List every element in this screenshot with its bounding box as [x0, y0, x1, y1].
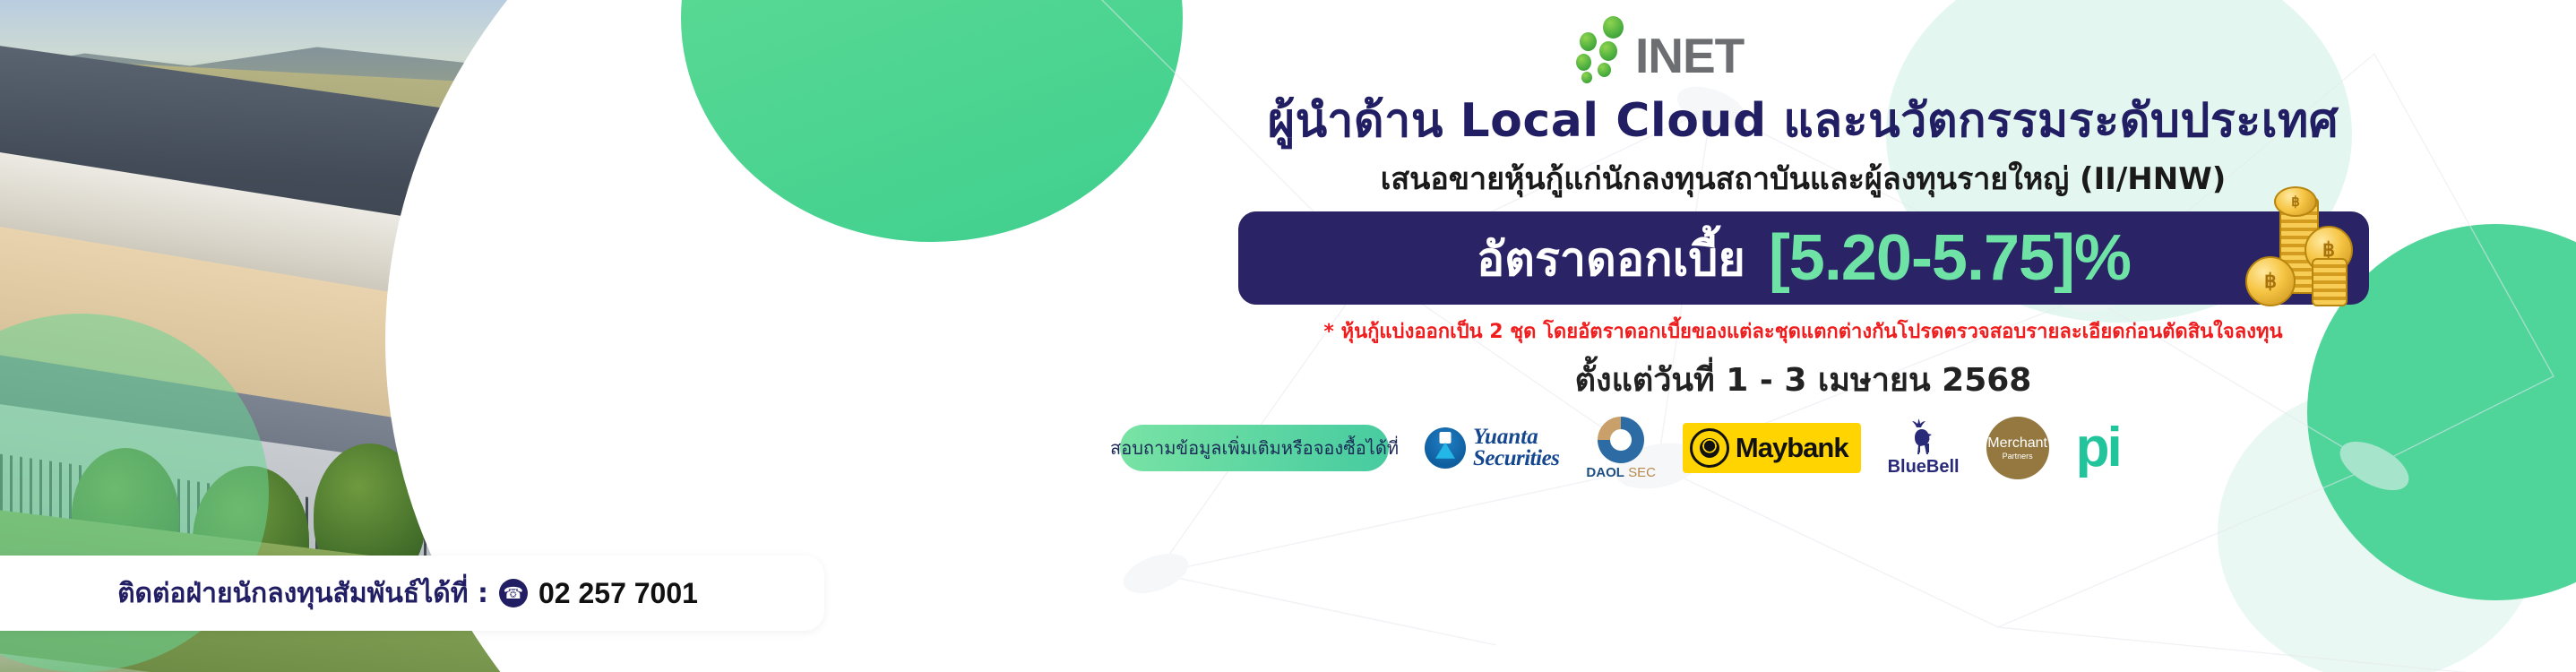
yuanta-wordmark: Yuanta Securities: [1473, 426, 1559, 470]
partner-logo-yuanta[interactable]: Yuanta Securities: [1425, 426, 1559, 470]
partner-logo-merchant-partners[interactable]: Merchant Partners: [1986, 417, 2049, 479]
daol-name: DAOL: [1586, 465, 1624, 480]
interest-rate-box: อัตราดอกเบี้ย [5.20-5.75]% ฿ ฿ ฿: [1238, 211, 2369, 305]
gold-coins-icon: ฿ ฿ ฿: [2238, 192, 2355, 317]
maybank-wordmark: Maybank: [1736, 432, 1848, 464]
page-title: ผู้นำด้าน Local Cloud และนวัตกรรมระดับปร…: [1030, 82, 2576, 157]
daol-suffix: SEC: [1628, 465, 1656, 480]
daol-wordmark: DAOL SEC: [1586, 465, 1656, 480]
partner-logo-maybank[interactable]: Maybank: [1683, 423, 1861, 473]
merchant-line2: Partners: [2003, 452, 2033, 461]
disclaimer-text: * หุ้นกู้แบ่งออกเป็น 2 ชุด โดยอัตราดอกเบ…: [1030, 315, 2576, 347]
yuanta-mark-icon: [1425, 427, 1466, 469]
yuanta-line1: Yuanta: [1473, 426, 1559, 448]
inet-logo-text: INET: [1635, 35, 1744, 77]
partner-logo-bluebell[interactable]: BlueBell: [1888, 418, 1960, 478]
phone-icon: ☎: [499, 579, 528, 607]
partner-logo-pi[interactable]: pi: [2076, 426, 2120, 470]
maybank-tiger-icon: [1690, 428, 1729, 468]
partner-logo-list: Yuanta Securities DAOL SEC Maybank: [1425, 417, 2120, 480]
interest-rate-label: อัตราดอกเบี้ย: [1477, 221, 1745, 296]
contact-cta-button[interactable]: สอบถามข้อมูลเพิ่มเติมหรือจองซื้อได้ที่: [1120, 425, 1389, 471]
daol-mark-icon: [1598, 417, 1644, 463]
content-column: INET ผู้นำด้าน Local Cloud และนวัตกรรมระ…: [1030, 0, 2576, 672]
contact-phone-number[interactable]: 02 257 7001: [538, 577, 698, 610]
contact-label: ติดต่อฝ่ายนักลงทุนสัมพันธ์ได้ที่ :: [117, 573, 488, 615]
green-dots-icon: [1564, 13, 1641, 77]
bluebell-wordmark: BlueBell: [1888, 457, 1960, 478]
partner-logo-daol[interactable]: DAOL SEC: [1586, 417, 1656, 480]
yuanta-line2: Securities: [1473, 448, 1559, 470]
deer-icon: [1904, 418, 1943, 456]
promo-banner: INET ผู้นำด้าน Local Cloud และนวัตกรรมระ…: [0, 0, 2576, 672]
offer-period-text: ตั้งแต่วันที่ 1 - 3 เมษายน 2568: [1030, 354, 2576, 405]
cta-and-partners-row: สอบถามข้อมูลเพิ่มเติมหรือจองซื้อได้ที่ Y…: [1120, 412, 2563, 484]
merchant-line1: Merchant: [1987, 436, 2047, 451]
interest-rate-value: [5.20-5.75]%: [1769, 221, 2131, 295]
inet-logo: INET: [1564, 13, 1940, 77]
investor-relations-contact-card: ติดต่อฝ่ายนักลงทุนสัมพันธ์ได้ที่ : ☎ 02 …: [0, 556, 824, 631]
